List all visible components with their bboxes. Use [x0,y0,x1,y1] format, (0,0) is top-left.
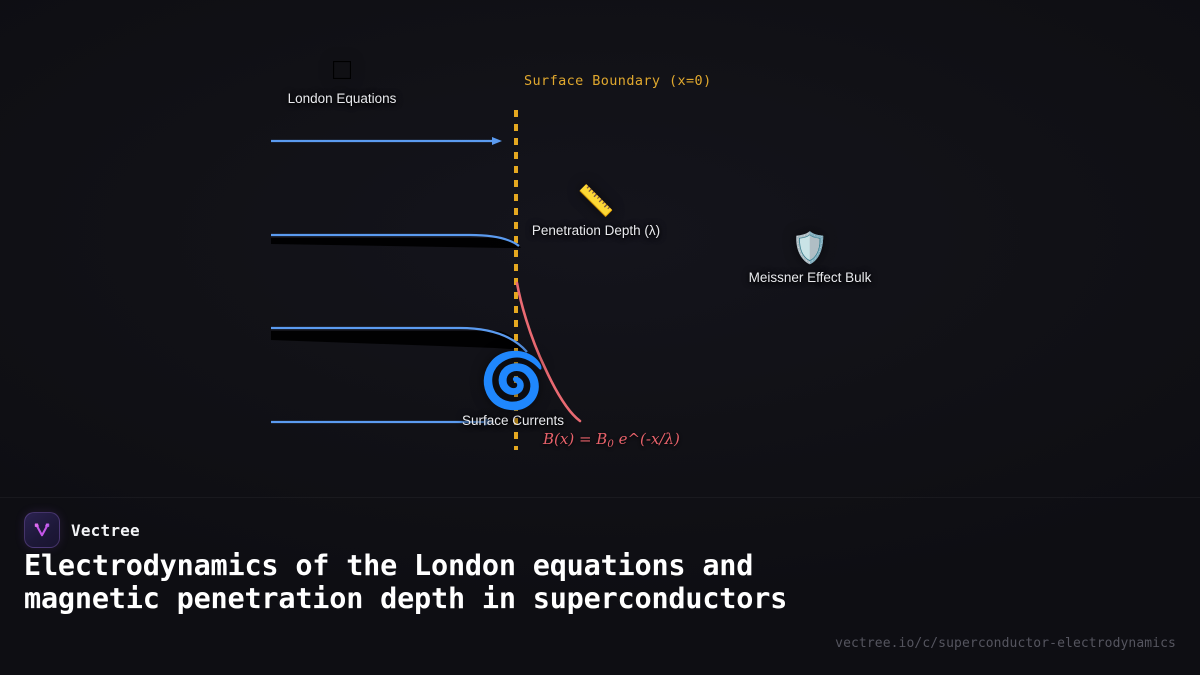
ruler-icon: 📏 [577,184,614,220]
shield-icon: 🛡️ [791,231,828,267]
decay-formula-main: B(x) = B [543,430,607,448]
decay-formula-tail: e^(-x/λ) [614,430,680,448]
node-penetration-depth[interactable]: 📏 Penetration Depth (λ) [516,184,676,239]
brand[interactable]: Vectree [24,512,140,548]
node-london-equations-label: London Equations [288,91,397,107]
surface-boundary-label: Surface Boundary (x=0) [524,73,712,89]
node-penetration-depth-label: Penetration Depth (λ) [532,223,660,239]
node-meissner-effect-bulk[interactable]: 🛡️ Meissner Effect Bulk [730,231,890,286]
slide-canvas: Surface Boundary (x=0) □ London Equation… [0,0,1200,675]
diagram-area: Surface Boundary (x=0) □ London Equation… [0,0,1200,497]
field-line-shadow-3 [271,331,523,350]
brand-name: Vectree [71,521,140,540]
node-meissner-effect-bulk-label: Meissner Effect Bulk [749,270,872,286]
footer: Vectree Electrodynamics of the London eq… [0,497,1200,675]
decay-formula: B(x) = B0 e^(-x/λ) [543,430,680,450]
missing-glyph-box-icon: □ [333,52,351,88]
cyclone-spiral-icon: 🌀 [479,352,546,410]
node-surface-currents[interactable]: 🌀 Surface Currents [433,352,593,429]
vectree-logo [24,512,60,548]
field-line-shadow-2 [271,238,521,248]
page-title: Electrodynamics of the London equations … [24,550,824,615]
node-surface-currents-label: Surface Currents [462,413,564,429]
node-london-equations[interactable]: □ London Equations [262,52,422,107]
vectree-logo-glyph [32,520,52,540]
source-url: vectree.io/c/superconductor-electrodynam… [835,636,1176,651]
